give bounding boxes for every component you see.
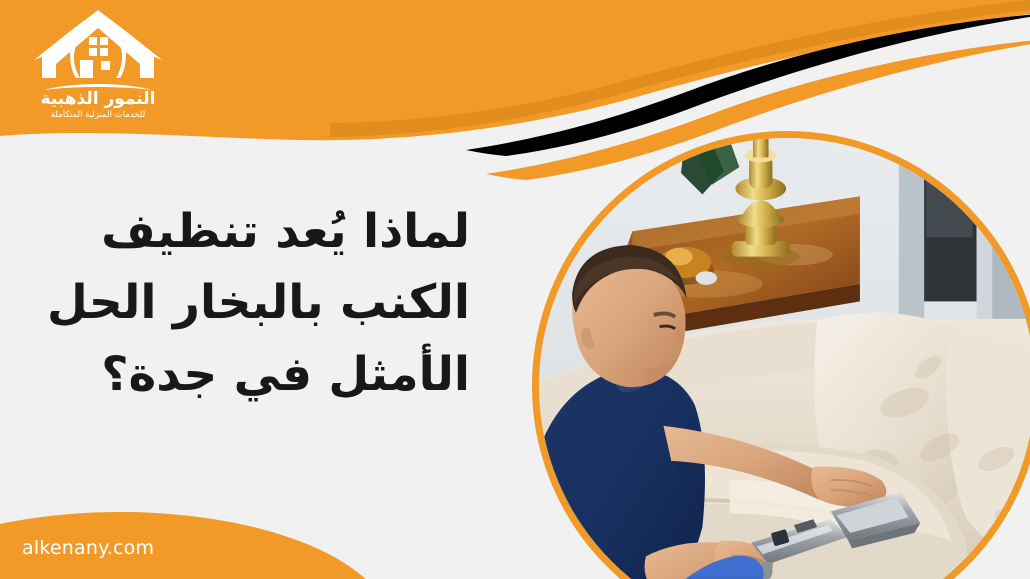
- house-logo-icon: [18, 4, 178, 96]
- orange-blob-edge: [330, 0, 1030, 137]
- banner-canvas: النمور الذهبية للخدمات المنزلية المتكامل…: [0, 0, 1030, 579]
- logo-brand-name: النمور الذهبية: [18, 90, 178, 109]
- logo-tagline: للخدمات المنزلية المتكاملة: [18, 111, 178, 120]
- photo-illustration: [539, 138, 1030, 579]
- headline-line-3: الأمثل في جدة؟: [50, 339, 470, 410]
- sofa-steam-cleaning-photo: [532, 131, 1030, 579]
- website-url: alkenany.com: [22, 537, 154, 559]
- headline: لماذا يُعد تنظيف الكنب بالبخار الحل الأم…: [50, 196, 470, 410]
- headline-line-2: الكنب بالبخار الحل: [50, 267, 470, 338]
- brand-logo: النمور الذهبية للخدمات المنزلية المتكامل…: [18, 4, 178, 130]
- photo-clip: [539, 138, 1030, 579]
- headline-line-1: لماذا يُعد تنظيف: [50, 196, 470, 267]
